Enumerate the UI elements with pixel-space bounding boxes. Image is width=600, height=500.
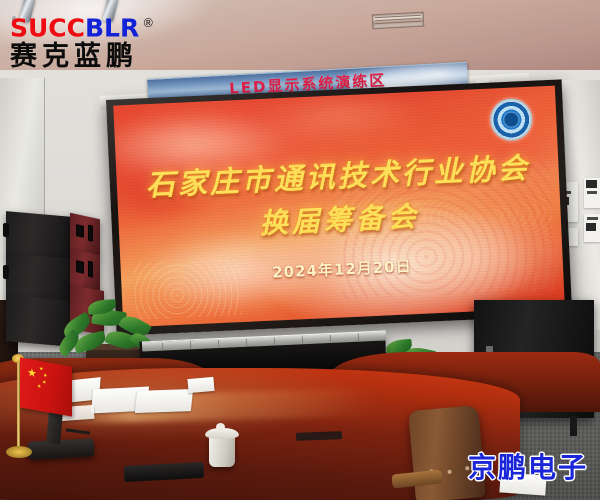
logo-text-succ: SUCC: [10, 13, 85, 42]
microphone-base: [28, 438, 95, 459]
watermark-text: 京鹏电子: [468, 446, 588, 486]
logo-chinese-text: 赛克蓝鹏: [10, 42, 154, 72]
wall-poster: [584, 214, 600, 242]
registered-trademark-icon: ®: [142, 10, 154, 36]
led-pixel-scanlines: [113, 86, 565, 328]
flag-stand-base: [6, 446, 32, 458]
led-screen-frame: 石家庄市通讯技术行业协会 换届筹备会 2024年12月20日: [106, 79, 572, 335]
lidded-teacup: [209, 435, 235, 467]
document-sheet: [135, 389, 193, 413]
company-logo: SUCCBLR® 赛克蓝鹏: [10, 10, 154, 72]
logo-text-blr: BLR: [85, 13, 139, 42]
wall-poster: [584, 178, 600, 208]
led-screen-surface: 石家庄市通讯技术行业协会 换届筹备会 2024年12月20日: [113, 86, 565, 328]
table-pen: [296, 431, 342, 441]
ceiling-air-vent: [372, 12, 425, 30]
teacup-knob: [216, 423, 225, 431]
logo-english-text: SUCCBLR®: [10, 10, 154, 41]
conference-room-photo: LED显示系统演练区 石家庄市通讯技术行业协会 换届筹备会 2024年12月20…: [0, 0, 600, 500]
document-sheet: [187, 377, 214, 393]
china-flag: ★ ★ ★ ★ ★: [20, 357, 72, 416]
led-display-wall: 石家庄市通讯技术行业协会 换届筹备会 2024年12月20日: [106, 79, 572, 335]
